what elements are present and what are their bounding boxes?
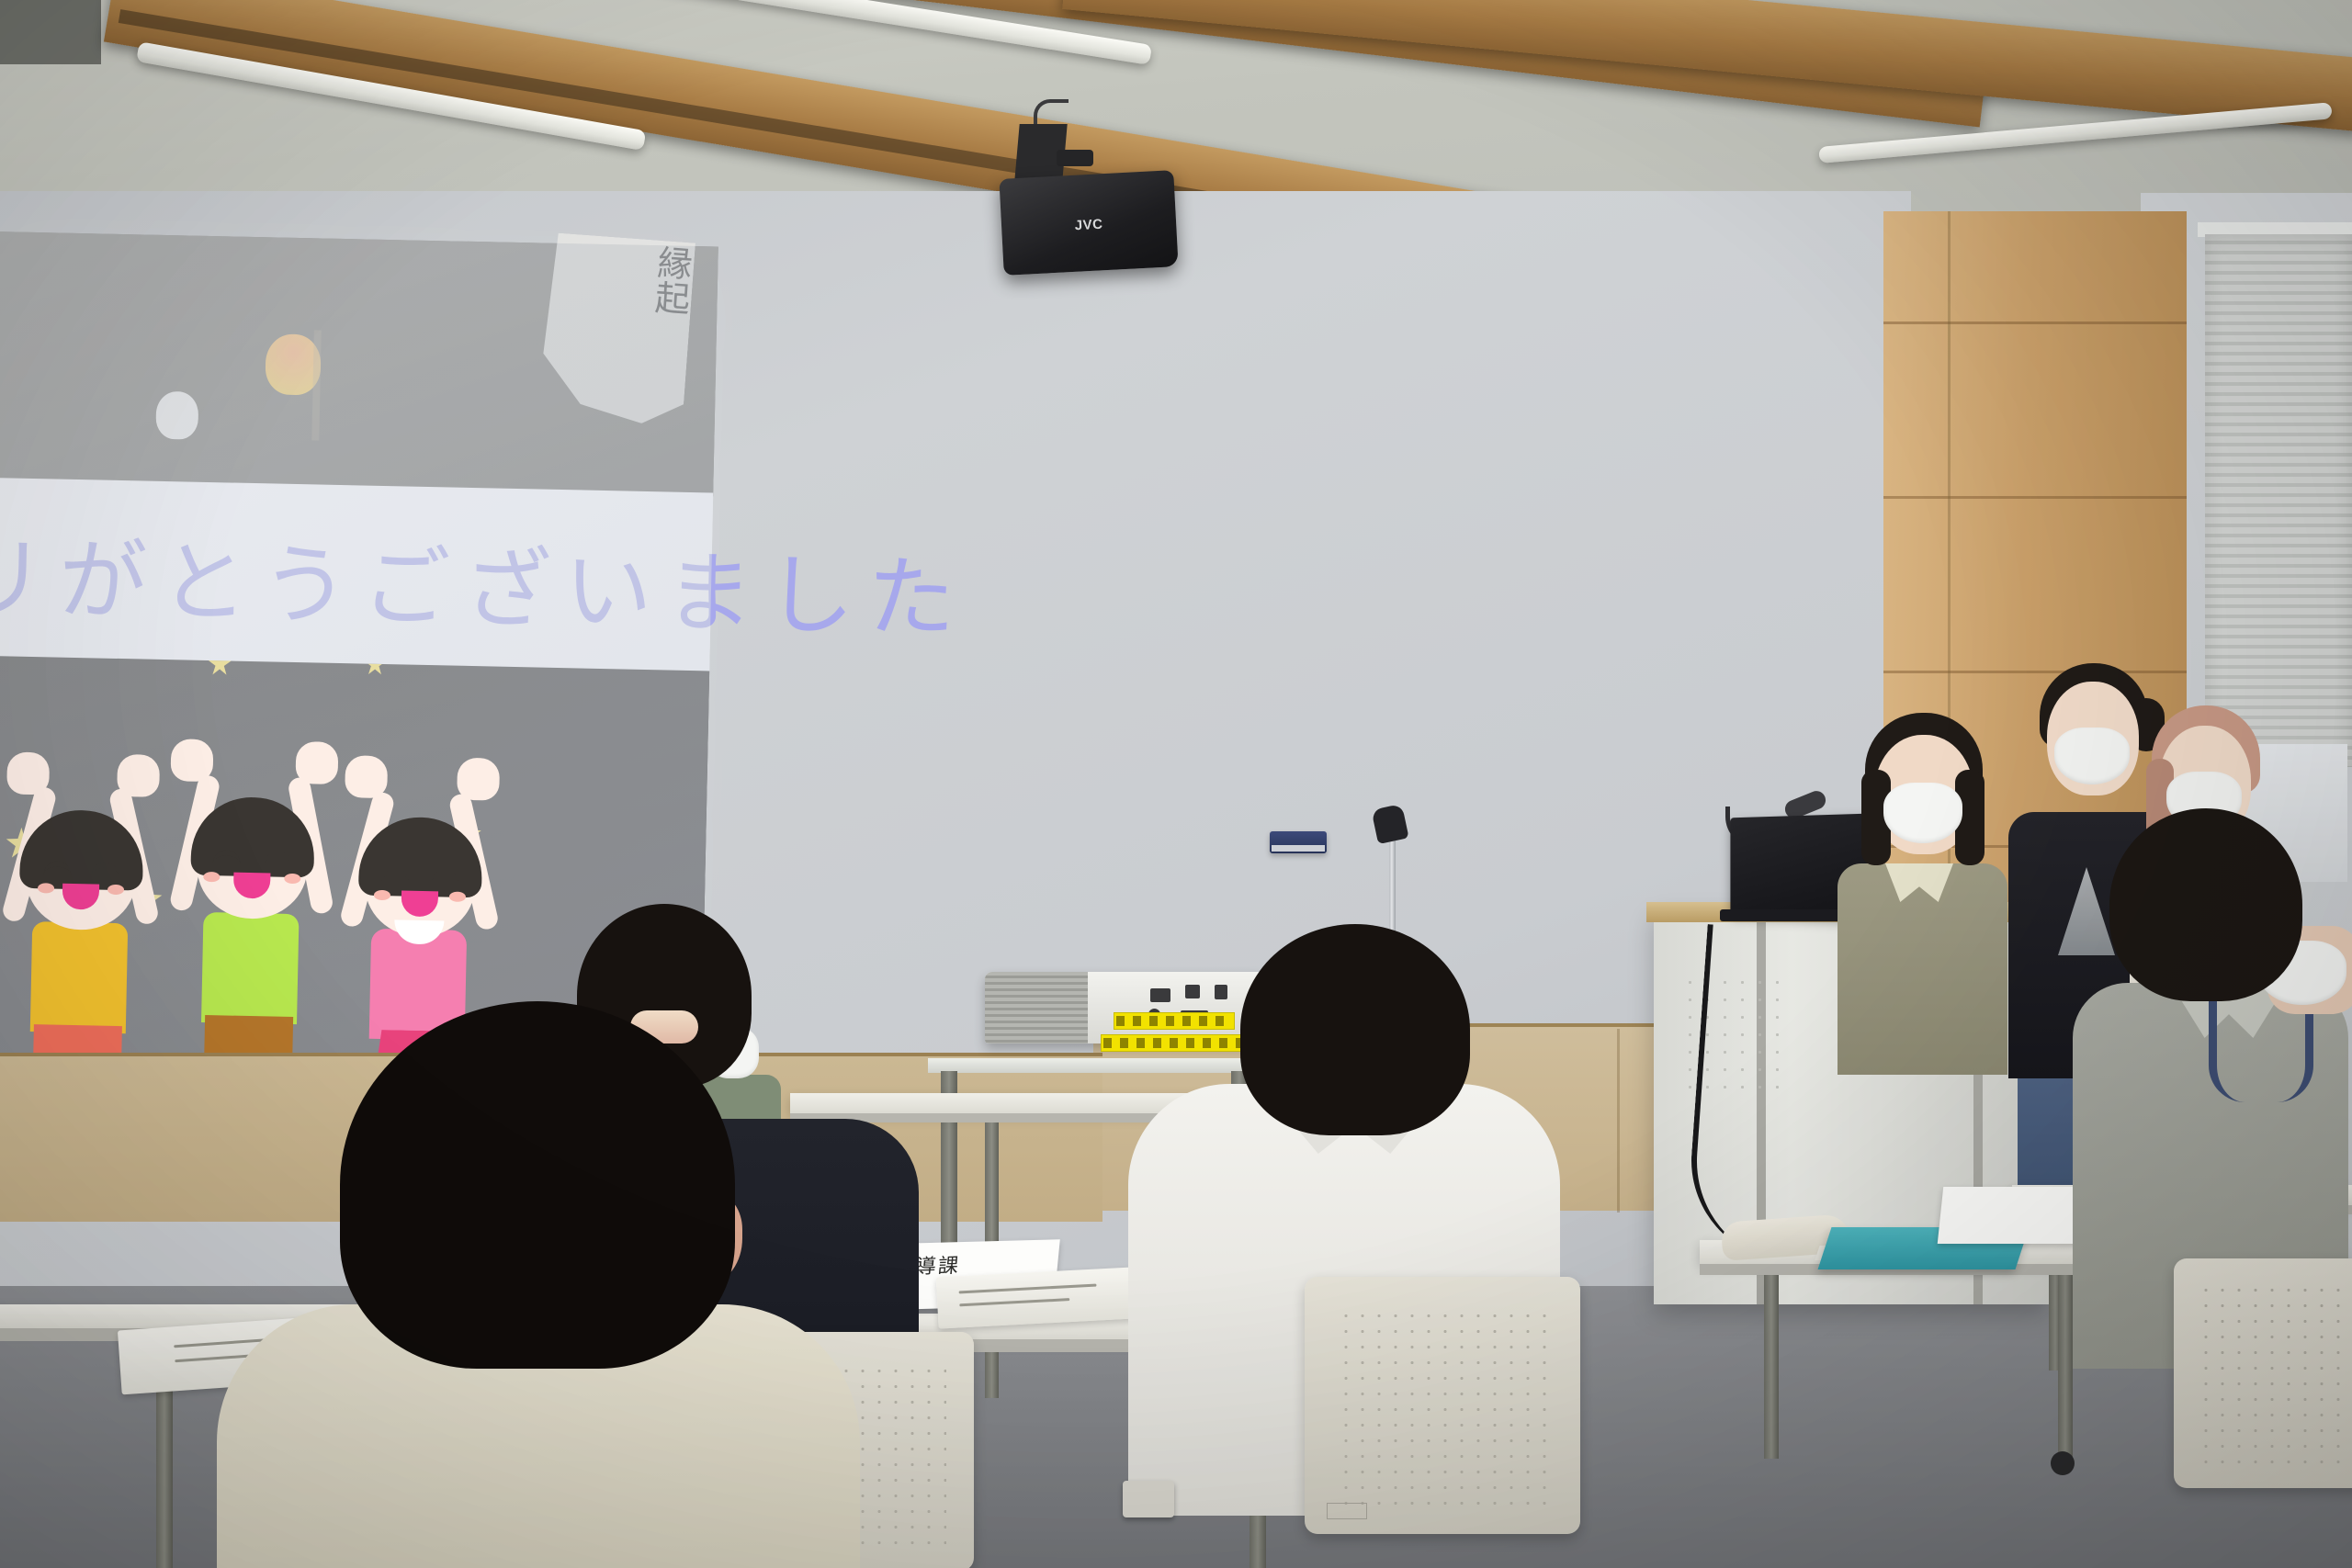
lantern-white-icon: [155, 391, 198, 440]
attendee-5-head: [1240, 924, 1470, 1135]
front-right-table-leg-1: [1764, 1275, 1779, 1459]
projector-port-3: [1215, 985, 1227, 999]
podium-cable: [1685, 924, 1824, 1262]
ceiling-vent: [0, 0, 101, 64]
attendee-4-head: [2109, 808, 2302, 1001]
attendee-4-lanyard: [2209, 1001, 2313, 1102]
speaker-brand-label: JVC: [1074, 216, 1103, 233]
slide-photo-sign-text: 縁起: [651, 244, 689, 316]
seminar-room-photo: JVC 縁起 リがとうございました: [0, 0, 2352, 1568]
projector-port-1: [1150, 988, 1170, 1002]
presenter-1-torso: [1837, 863, 2007, 1075]
ceiling-speaker: JVC: [999, 170, 1178, 276]
speaker-arm: [1057, 150, 1093, 166]
projector-vent: [985, 972, 1088, 1043]
table-caster-1: [2051, 1451, 2075, 1475]
window-blinds[interactable]: [2205, 234, 2352, 767]
slide-thankyou-text: リがとうございました: [0, 506, 713, 649]
projector-warning-label-1: [1114, 1012, 1235, 1030]
whiteboard-eraser[interactable]: [1270, 831, 1327, 853]
presenter-1-face-mask: [1883, 783, 1962, 843]
floor-box[interactable]: [1123, 1481, 1174, 1517]
attendee-7-head: [340, 1001, 735, 1369]
projector-port-2: [1185, 985, 1200, 998]
lantern-pole: [311, 330, 322, 440]
slide-dark-band: 縁起: [0, 231, 718, 496]
slide-photo-sign: 縁起: [526, 231, 695, 426]
wainscot-seam-2: [1617, 1029, 1620, 1213]
front-right-table-leg-2: [2058, 1275, 2073, 1459]
presenter-2-face-mask: [2054, 728, 2130, 784]
